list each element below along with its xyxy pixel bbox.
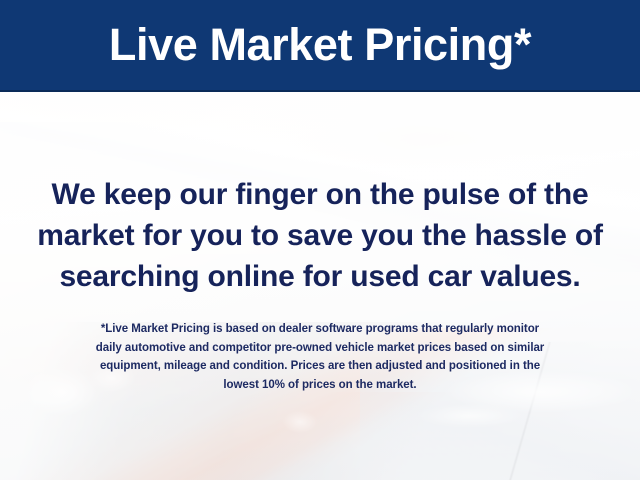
disclaimer-line-2: daily automotive and competitor pre-owne… xyxy=(20,339,620,358)
headline-line-2: market for you to save you the hassle of xyxy=(20,215,620,256)
page-title: Live Market Pricing* xyxy=(109,22,531,67)
disclaimer-line-4: lowest 10% of prices on the market. xyxy=(20,376,620,395)
live-market-pricing-slide: Live Market Pricing* We keep our finger … xyxy=(0,0,640,480)
disclaimer-block: *Live Market Pricing is based on dealer … xyxy=(20,320,620,394)
headline-line-3: searching online for used car values. xyxy=(20,256,620,297)
disclaimer-line-3: equipment, mileage and condition. Prices… xyxy=(20,357,620,376)
disclaimer-line-1: *Live Market Pricing is based on dealer … xyxy=(20,320,620,339)
header-bar: Live Market Pricing* xyxy=(0,0,640,92)
content-area: We keep our finger on the pulse of the m… xyxy=(0,92,640,480)
headline-block: We keep our finger on the pulse of the m… xyxy=(20,174,620,297)
headline-line-1: We keep our finger on the pulse of the xyxy=(20,174,620,215)
